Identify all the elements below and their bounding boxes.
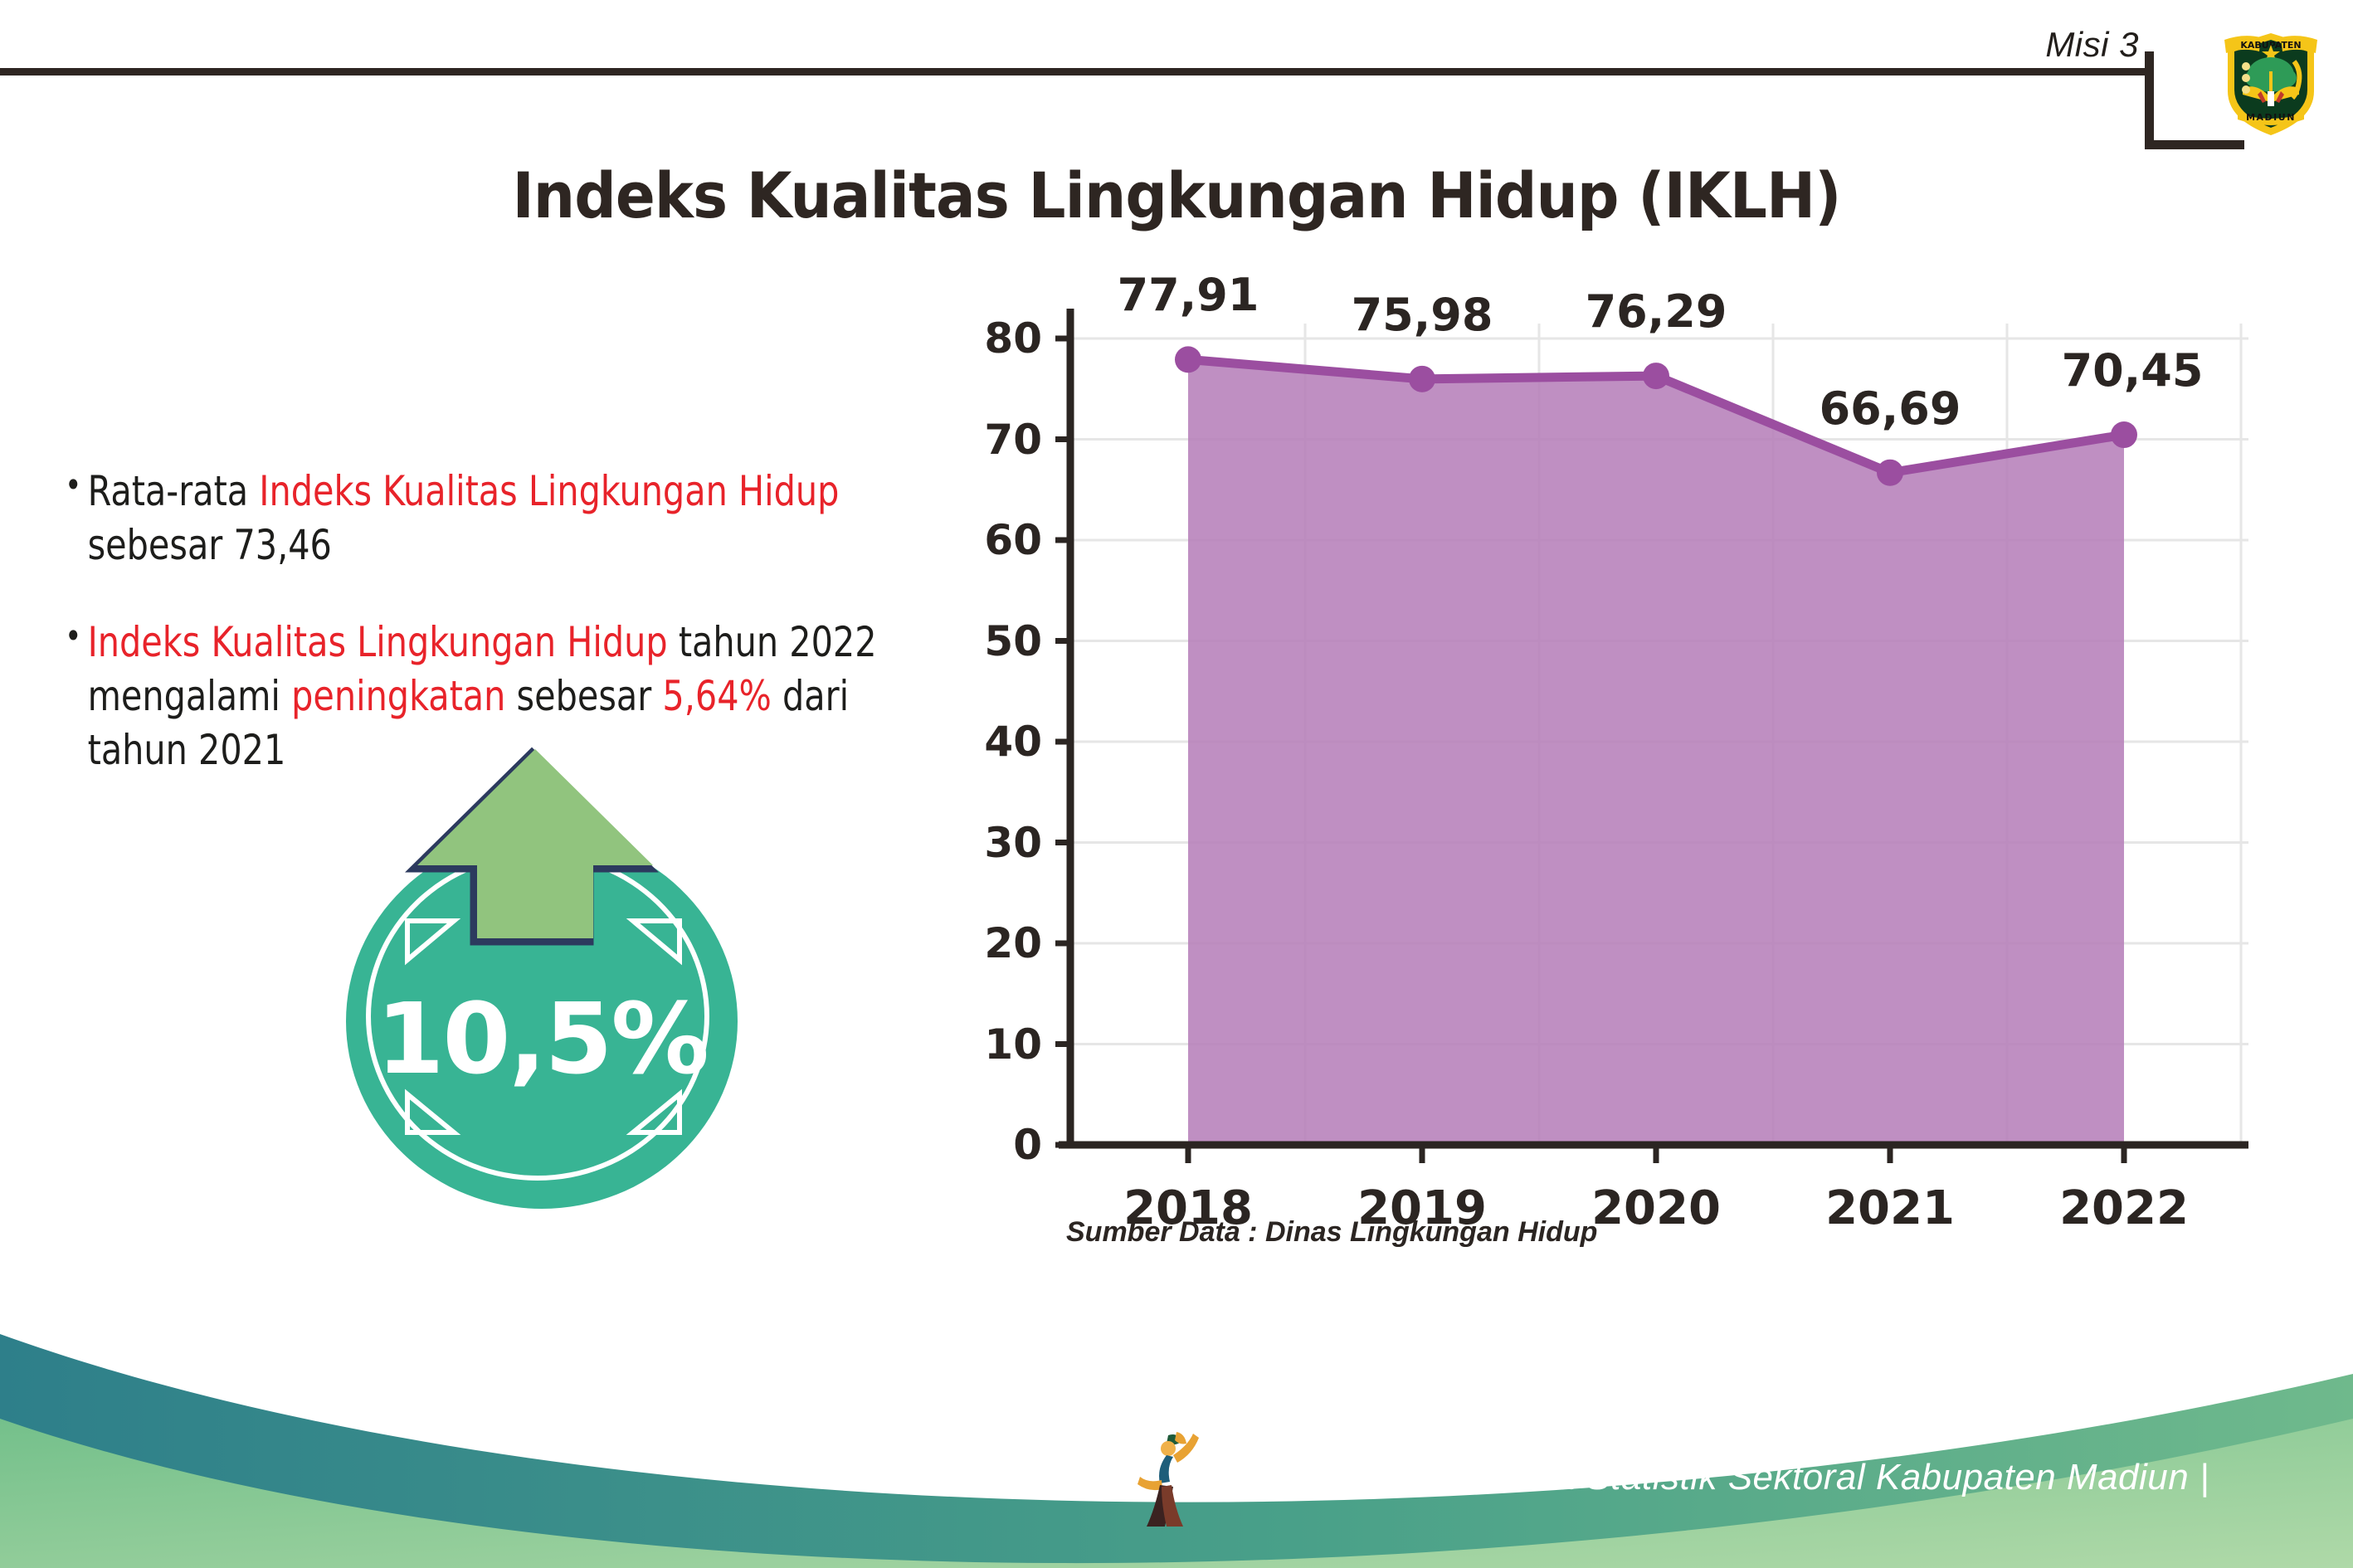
page-title: Indeks Kualitas Lingkungan Hidup (IKLH): [82, 158, 2270, 232]
data-point-label: 75,98: [1352, 289, 1493, 341]
y-axis-tick-label: 60: [984, 516, 1042, 564]
bullet-0-segment-2: sebesar 73,46: [88, 521, 332, 569]
svg-text:MADIUN: MADIUN: [2246, 112, 2296, 123]
iklh-area-chart: 010203040506070802018201920202021202277,…: [954, 290, 2282, 1269]
y-axis-tick-label: 70: [984, 416, 1042, 464]
x-axis-tick-label: 2020: [1591, 1181, 1721, 1235]
data-point-label: 66,69: [1820, 382, 1961, 435]
bullet-1-segment-3: sebesar: [505, 672, 662, 720]
x-axis-tick-label: 2022: [2059, 1181, 2189, 1235]
data-point-label: 76,29: [1586, 285, 1727, 338]
kabupaten-madiun-crest-icon: KABUPATEN MADIUN: [2218, 15, 2324, 139]
badge-percent-value: 10,5%: [346, 981, 738, 1096]
bullet-1-segment-2: peningkatan: [291, 672, 505, 720]
arrow-up-icon: [328, 743, 759, 1207]
y-axis-tick-label: 0: [1013, 1121, 1042, 1169]
y-axis-tick-label: 80: [984, 314, 1042, 363]
bullet-1-segment-0: Indeks Kualitas Lingkungan Hidup: [88, 618, 668, 666]
misi-label: Misi 3: [2045, 25, 2139, 65]
bracket-vertical: [2145, 51, 2154, 149]
source-note: Sumber Data : Dinas Lingkungan Hidup: [1066, 1216, 1597, 1249]
footer-text: Media Infografis Data Statistik Sektoral…: [1220, 1457, 2209, 1498]
y-axis-tick-label: 30: [984, 819, 1042, 867]
bullet-0-segment-0: Rata-rata: [88, 467, 260, 515]
data-point-label: 77,91: [1118, 269, 1259, 321]
list-item: Rata-rata Indeks Kualitas Lingkungan Hid…: [65, 465, 919, 572]
y-axis-tick-label: 40: [984, 718, 1042, 766]
reog-dancer-logo-icon: [1135, 1427, 1208, 1535]
x-axis-tick-label: 2021: [1825, 1181, 1955, 1235]
y-axis-tick-label: 50: [984, 617, 1042, 665]
chart-canvas: [954, 290, 2282, 1269]
bracket-horizontal: [2145, 140, 2244, 149]
y-axis-tick-label: 10: [984, 1020, 1042, 1069]
footer: Media Infografis Data Statistik Sektoral…: [0, 1294, 2353, 1568]
increase-badge: 10,5%: [328, 743, 759, 1207]
data-point-label: 70,45: [2062, 344, 2204, 397]
bullet-1-segment-4: 5,64%: [662, 672, 771, 720]
bullet-0-segment-1: Indeks Kualitas Lingkungan Hidup: [259, 467, 839, 515]
y-axis-tick-label: 20: [984, 919, 1042, 967]
header-rule: [0, 68, 2149, 75]
